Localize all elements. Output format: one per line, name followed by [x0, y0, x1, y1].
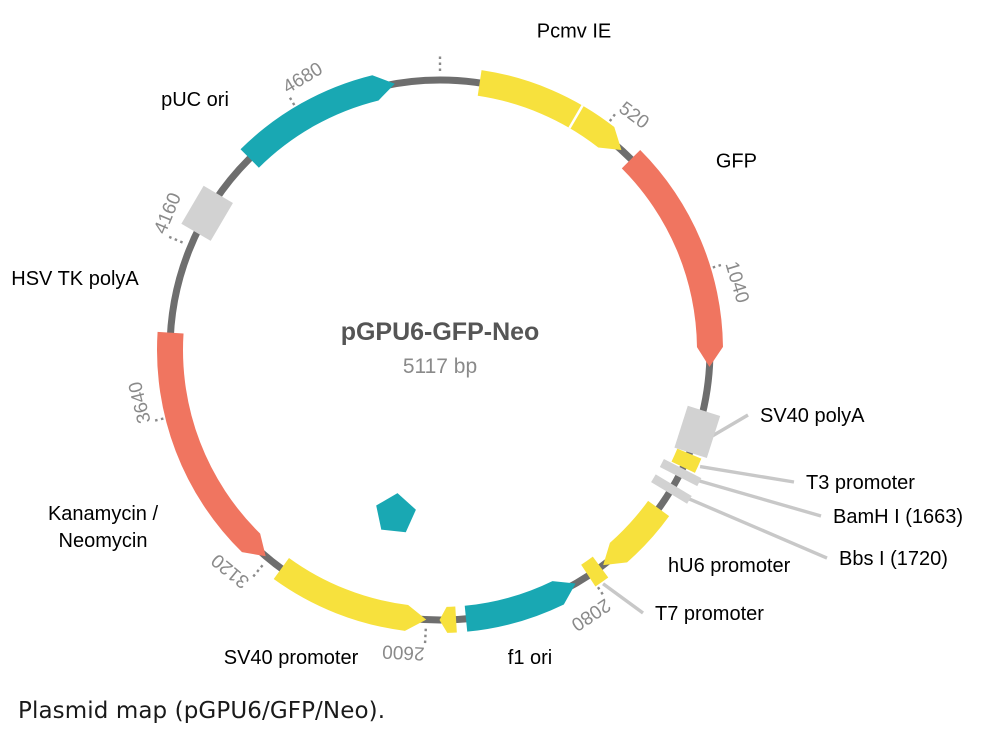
plasmid-map-svg: 5201040208026003120364041604680 Pcmv IEG… [0, 0, 982, 690]
tick-label: 2080 [567, 594, 614, 635]
feature-hu6-promoter-label: hU6 promoter [668, 555, 791, 577]
figure-caption: Plasmid map (pGPU6/GFP/Neo). [18, 698, 385, 724]
plasmid-map: 5201040208026003120364041604680 Pcmv IEG… [0, 0, 982, 690]
feature-hu6-promoter[interactable] [603, 501, 669, 565]
feature-sv40-promoter-main-label: SV40 promoter [224, 647, 359, 669]
feature-bamh-i-1663-label: BamH I (1663) [833, 506, 963, 528]
feature-puc-ori-label: pUC ori [161, 89, 229, 111]
feature-t3-promoter-label: T3 promoter [806, 472, 915, 494]
feature-f1-ori-label: f1 ori [508, 647, 552, 669]
feature-puc-ori[interactable] [241, 75, 395, 167]
tick-label: 2600 [382, 640, 425, 663]
tick-2080: 2080 [567, 582, 614, 635]
tick-2600: 2600 [382, 629, 426, 664]
feature-unnamed-small-feature[interactable] [376, 493, 416, 532]
center-title-group: pGPU6-GFP-Neo 5117 bp [341, 318, 540, 378]
tick-label: 1040 [720, 259, 752, 306]
feature-sv40-polya-box[interactable] [674, 406, 720, 458]
feature-pcmv-ie[interactable] [478, 70, 622, 150]
feature-gfp-label: GFP [716, 151, 757, 173]
feature-hsv-tk-polya-label: HSV TK polyA [11, 268, 139, 290]
feature-bbs-i-1720-label: Bbs I (1720) [839, 548, 948, 570]
feature-sv40-promoter-main[interactable] [274, 558, 427, 631]
feature-kanamycin-neomycin-label: Kanamycin / [48, 503, 158, 525]
feature-pcmv-ie-label: Pcmv IE [537, 21, 611, 43]
leader-line-group [603, 415, 827, 613]
tick-label: 4160 [150, 190, 186, 237]
feature-t7-promoter-label: T7 promoter [655, 603, 764, 625]
tick-label: 3120 [208, 549, 254, 592]
feature-bbs-i-1720-leader [684, 497, 827, 558]
feature-gfp[interactable] [622, 150, 723, 367]
tick-label: 3640 [125, 379, 156, 425]
tick-4160: 4160 [150, 190, 186, 242]
feature-sv40-promoter[interactable] [440, 607, 457, 633]
feature-kanamycin-neomycin[interactable] [157, 332, 266, 556]
feature-f1-ori[interactable] [465, 581, 576, 632]
plasmid-size: 5117 bp [403, 355, 477, 378]
tick-3120: 3120 [208, 549, 263, 592]
plasmid-name: pGPU6-GFP-Neo [341, 318, 540, 346]
feature-kanamycin-neomycin-label-line2: Neomycin [59, 530, 148, 552]
feature-t3-promoter-leader [700, 467, 794, 482]
feature-group [157, 70, 723, 633]
feature-hsv-tk-polya-box[interactable] [181, 186, 233, 241]
tick-label: 520 [615, 98, 653, 134]
feature-sv40-polya-label: SV40 polyA [760, 405, 865, 427]
feature-bbs-i-1720[interactable] [653, 478, 689, 500]
tick-label: 4680 [279, 59, 326, 99]
